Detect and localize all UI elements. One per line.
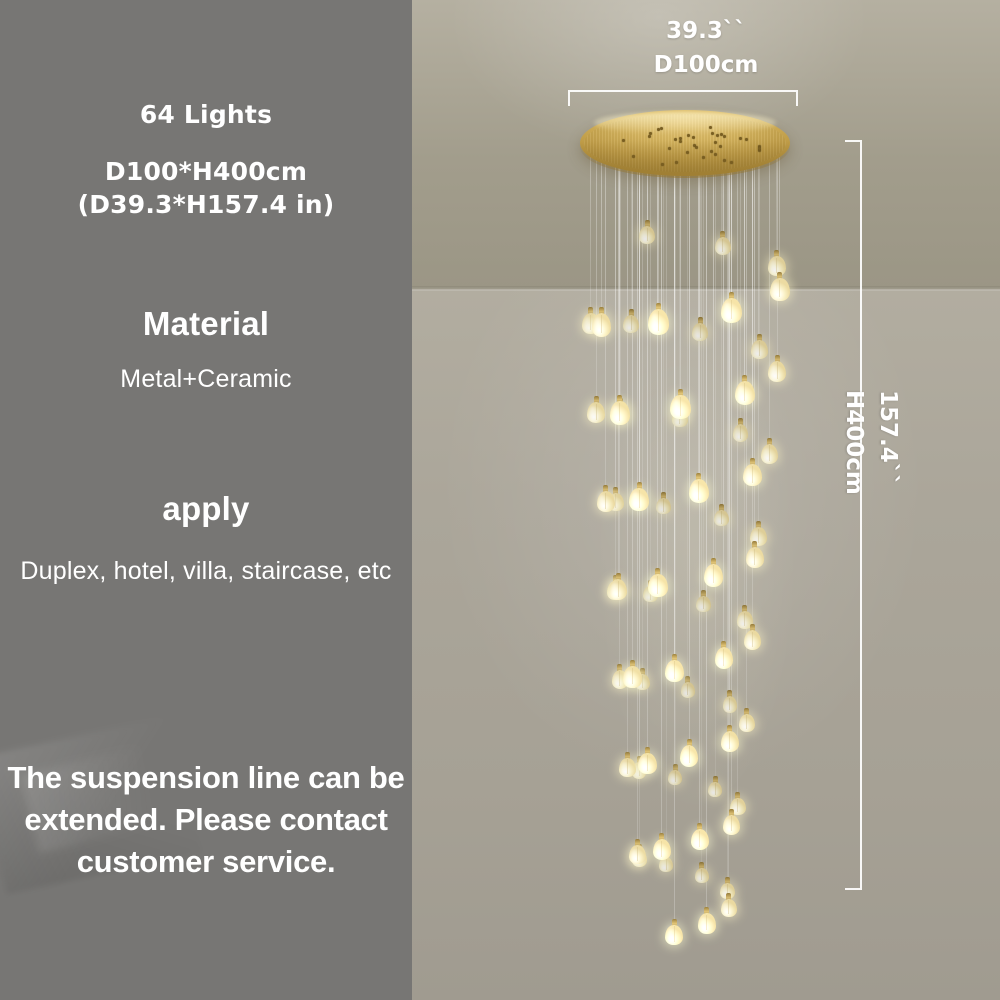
- shade-petal: [665, 925, 683, 946]
- suspension-cable: [596, 145, 597, 396]
- light-shade: [768, 355, 786, 383]
- suspension-line-notice: The suspension line can be extended. Ple…: [0, 757, 412, 883]
- shade-petal: [714, 510, 729, 527]
- shade-petal: [770, 278, 789, 301]
- light-shade: [592, 307, 612, 336]
- light-shade: [691, 823, 709, 850]
- suspension-cable: [737, 145, 738, 792]
- suspension-cable: [698, 145, 699, 473]
- light-shade: [610, 395, 630, 425]
- suspension-cable: [713, 145, 714, 558]
- top-dimension-cm: D100cm: [412, 52, 1000, 78]
- shade-petal: [744, 630, 761, 650]
- shade-petal: [670, 395, 690, 420]
- shade-petal: [629, 488, 649, 511]
- shade-petal: [680, 745, 699, 767]
- right-dimension-bracket: [845, 140, 862, 890]
- shade-petal: [743, 464, 762, 487]
- light-shade: [689, 473, 709, 503]
- canopy-hole: [692, 136, 695, 139]
- shade-petal: [623, 315, 639, 333]
- shade-petal: [735, 381, 755, 405]
- canopy-hole: [649, 132, 652, 135]
- light-shade: [721, 292, 742, 323]
- shade-petal: [681, 682, 695, 697]
- light-shade: [708, 776, 722, 797]
- light-shade: [587, 396, 605, 423]
- shade-petal: [623, 666, 641, 687]
- shade-petal: [639, 226, 655, 244]
- light-shade: [704, 558, 723, 587]
- light-shade: [744, 624, 761, 650]
- canopy-hole: [675, 161, 678, 164]
- spec-panel: 64 Lights D100*H400cm (D39.3*H157.4 in) …: [0, 0, 412, 1000]
- shade-petal: [723, 696, 738, 712]
- shade-petal: [723, 815, 740, 835]
- light-shade: [715, 231, 731, 255]
- shade-petal: [708, 782, 722, 797]
- canopy-hole: [695, 146, 698, 149]
- suspension-cable: [721, 145, 722, 504]
- canopy-hole: [648, 135, 651, 138]
- shade-petal: [746, 547, 764, 568]
- suspension-cable: [689, 145, 690, 739]
- canopy-hole: [723, 159, 726, 162]
- canopy-hole: [714, 153, 717, 156]
- light-shade: [665, 654, 684, 683]
- product-photo: 39.3`` D100cm 157.4`` H400cm: [412, 0, 1000, 1000]
- light-shade: [739, 708, 755, 733]
- shade-petal: [610, 401, 630, 425]
- light-shade: [695, 862, 709, 883]
- light-shade: [668, 764, 682, 785]
- shade-petal: [587, 402, 605, 423]
- light-shade: [696, 590, 711, 612]
- shade-petal: [609, 579, 627, 600]
- dimensions-cm-label: D100*H400cm: [0, 157, 412, 186]
- light-shade: [715, 641, 734, 669]
- light-shade: [714, 504, 729, 527]
- suspension-cable: [703, 145, 704, 590]
- canopy-hole: [668, 147, 671, 150]
- light-shade: [623, 309, 639, 333]
- light-shade: [619, 752, 636, 777]
- shade-petal: [665, 660, 684, 683]
- shade-petal: [619, 758, 636, 777]
- ceiling-canopy: [580, 110, 790, 182]
- shade-petal: [592, 313, 612, 336]
- shade-petal: [692, 323, 708, 341]
- light-shade: [746, 541, 764, 568]
- shade-petal: [751, 340, 768, 359]
- light-shade: [721, 725, 739, 752]
- right-dimension-inches: 157.4``: [875, 390, 901, 486]
- light-shade: [623, 660, 641, 687]
- shade-petal: [597, 491, 615, 512]
- canopy-hole: [711, 132, 714, 135]
- shade-petal: [668, 770, 682, 785]
- shade-petal: [691, 829, 709, 850]
- right-dimension-cm: H400cm: [841, 390, 867, 495]
- light-shade: [692, 317, 708, 341]
- lights-count-label: 64 Lights: [0, 100, 412, 129]
- shade-petal: [629, 845, 646, 864]
- light-shade: [648, 303, 669, 334]
- canopy-highlight: [594, 112, 776, 134]
- suspension-cable: [723, 145, 724, 641]
- shade-petal: [721, 298, 742, 323]
- suspension-cable: [701, 145, 702, 862]
- light-shade: [723, 690, 738, 712]
- light-shade: [698, 907, 716, 933]
- suspension-cable: [661, 145, 662, 833]
- light-shade: [670, 389, 690, 420]
- light-shade: [751, 334, 768, 359]
- suspension-cable: [706, 145, 707, 907]
- canopy-hole: [679, 140, 682, 143]
- light-shade: [629, 839, 646, 864]
- canopy-hole: [745, 138, 748, 141]
- apply-heading: apply: [0, 490, 412, 528]
- shade-petal: [638, 753, 656, 774]
- canopy-hole: [714, 141, 717, 144]
- light-shade: [629, 482, 649, 511]
- material-value: Metal+Ceramic: [0, 365, 412, 394]
- shade-petal: [695, 868, 709, 883]
- shade-petal: [704, 564, 723, 587]
- shade-petal: [761, 444, 778, 464]
- suspension-cable: [752, 145, 753, 458]
- light-shade: [665, 919, 683, 946]
- shade-petal: [715, 237, 731, 255]
- shade-petal: [656, 498, 671, 515]
- shade-petal: [648, 309, 669, 334]
- canopy-hole: [709, 126, 712, 129]
- shade-petal: [733, 424, 749, 442]
- shade-petal: [721, 899, 737, 918]
- light-shade: [743, 458, 762, 487]
- suspension-cable: [620, 145, 621, 398]
- light-shade: [723, 809, 740, 835]
- light-shade: [770, 272, 789, 301]
- light-shade: [721, 893, 737, 918]
- shade-petal: [715, 647, 734, 669]
- shade-petal: [721, 731, 739, 752]
- apply-value: Duplex, hotel, villa, staircase, etc: [0, 552, 412, 590]
- light-shade: [761, 438, 778, 464]
- light-shade: [638, 747, 656, 774]
- shade-petal: [653, 839, 671, 860]
- suspension-cable: [619, 145, 620, 395]
- suspension-cable: [650, 145, 651, 580]
- product-spec-image: 64 Lights D100*H400cm (D39.3*H157.4 in) …: [0, 0, 1000, 1000]
- light-shade: [653, 833, 671, 860]
- material-heading: Material: [0, 305, 412, 343]
- shade-petal: [768, 361, 786, 383]
- shade-petal: [689, 479, 709, 503]
- light-shade: [648, 568, 667, 597]
- light-shade: [735, 375, 755, 405]
- top-dimension-inches: 39.3``: [412, 18, 1000, 44]
- light-shade: [597, 485, 615, 512]
- canopy-hole: [622, 139, 625, 142]
- right-dimension-labels: 157.4`` H400cm: [867, 390, 907, 590]
- shade-petal: [739, 714, 755, 733]
- shade-petal: [696, 596, 711, 612]
- dimensions-inches-label: (D39.3*H157.4 in): [0, 190, 412, 219]
- light-shade: [639, 220, 655, 244]
- light-shade: [609, 573, 627, 600]
- top-dimension-bracket: [568, 90, 798, 106]
- suspension-cable: [632, 145, 633, 660]
- light-shade: [733, 418, 749, 442]
- light-shade: [680, 739, 699, 767]
- shade-petal: [648, 574, 667, 597]
- light-shade: [656, 492, 671, 515]
- shade-petal: [698, 913, 716, 933]
